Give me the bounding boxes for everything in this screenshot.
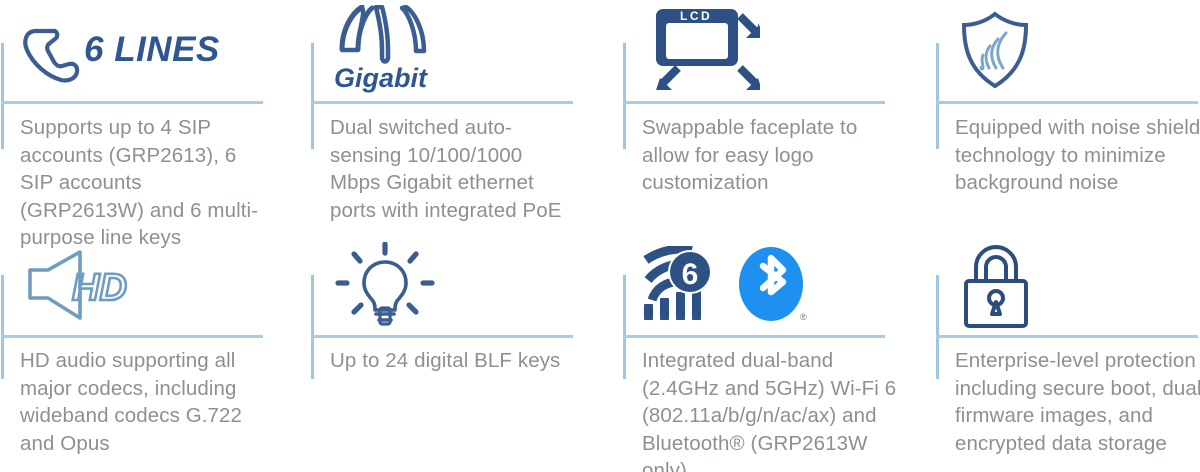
- vertical-rule: [623, 275, 626, 379]
- svg-text:®: ®: [800, 312, 807, 322]
- vertical-rule: [311, 275, 314, 379]
- feature-card-security: Enterprise-level protection including se…: [935, 236, 1200, 472]
- svg-text:6: 6: [682, 258, 699, 291]
- feature-card-gigabit: Gigabit Dual switched auto-sensing 10/10…: [310, 0, 622, 236]
- feature-description: Supports up to 4 SIP accounts (GRP2613),…: [20, 114, 268, 252]
- feature-card-six-lines: 6 LINES Supports up to 4 SIP accounts (G…: [0, 0, 310, 236]
- icon-area: 6 LINES: [18, 0, 263, 100]
- lightbulb-icon: [328, 242, 443, 330]
- vertical-rule: [623, 43, 626, 149]
- padlock-icon: [953, 242, 1038, 330]
- svg-text:6 LINES: 6 LINES: [84, 30, 220, 69]
- phone-handset-6-lines-icon: 6 LINES: [18, 15, 263, 85]
- feature-card-wifi-bluetooth: 6 ® Integrated dual-band (2.4GHz and 5GH…: [622, 236, 935, 472]
- feature-description: Up to 24 digital BLF keys: [330, 347, 578, 375]
- icon-area: [328, 236, 443, 336]
- svg-text:Gigabit: Gigabit: [334, 63, 428, 93]
- lcd-faceplate-icon: LCD: [640, 5, 760, 95]
- vertical-rule: [1, 43, 4, 149]
- feature-description: Integrated dual-band (2.4GHz and 5GHz) W…: [642, 347, 904, 472]
- feature-card-faceplate: LCD Swappable faceplate to allow for eas…: [622, 0, 935, 236]
- feature-card-hd-audio: HD HD audio supporting all major codecs,…: [0, 236, 310, 472]
- gigabit-ethernet-icon: Gigabit: [328, 5, 448, 95]
- feature-description: Equipped with noise shield technology to…: [955, 114, 1200, 197]
- wifi-6-icon: 6: [640, 246, 720, 326]
- feature-description: Enterprise-level protection including se…: [955, 347, 1200, 457]
- icon-area: 6 ®: [640, 236, 808, 336]
- horizontal-rule: [936, 101, 1198, 104]
- shield-noise-icon: [953, 8, 1043, 93]
- icon-area: Gigabit: [328, 0, 448, 100]
- feature-description: HD audio supporting all major codecs, in…: [20, 347, 268, 457]
- feature-card-blf-keys: Up to 24 digital BLF keys: [310, 236, 622, 472]
- icon-area: [953, 236, 1038, 336]
- icon-area: [953, 0, 1043, 100]
- feature-description: Dual switched auto-sensing 10/100/1000 M…: [330, 114, 578, 224]
- vertical-rule: [311, 43, 314, 149]
- speaker-hd-icon: HD: [18, 244, 138, 329]
- vertical-rule: [1, 275, 4, 379]
- horizontal-rule: [623, 101, 885, 104]
- icon-area: HD: [18, 236, 138, 336]
- svg-text:HD: HD: [72, 267, 127, 309]
- feature-description: Swappable faceplate to allow for easy lo…: [642, 114, 904, 197]
- horizontal-rule: [1, 101, 263, 104]
- vertical-rule: [936, 43, 939, 149]
- icon-area: LCD: [640, 0, 760, 100]
- svg-text:LCD: LCD: [680, 9, 712, 23]
- vertical-rule: [936, 275, 939, 379]
- feature-grid: 6 LINES Supports up to 4 SIP accounts (G…: [0, 0, 1200, 472]
- feature-card-noise-shield: Equipped with noise shield technology to…: [935, 0, 1200, 236]
- horizontal-rule: [311, 101, 573, 104]
- bluetooth-icon: ®: [738, 246, 808, 326]
